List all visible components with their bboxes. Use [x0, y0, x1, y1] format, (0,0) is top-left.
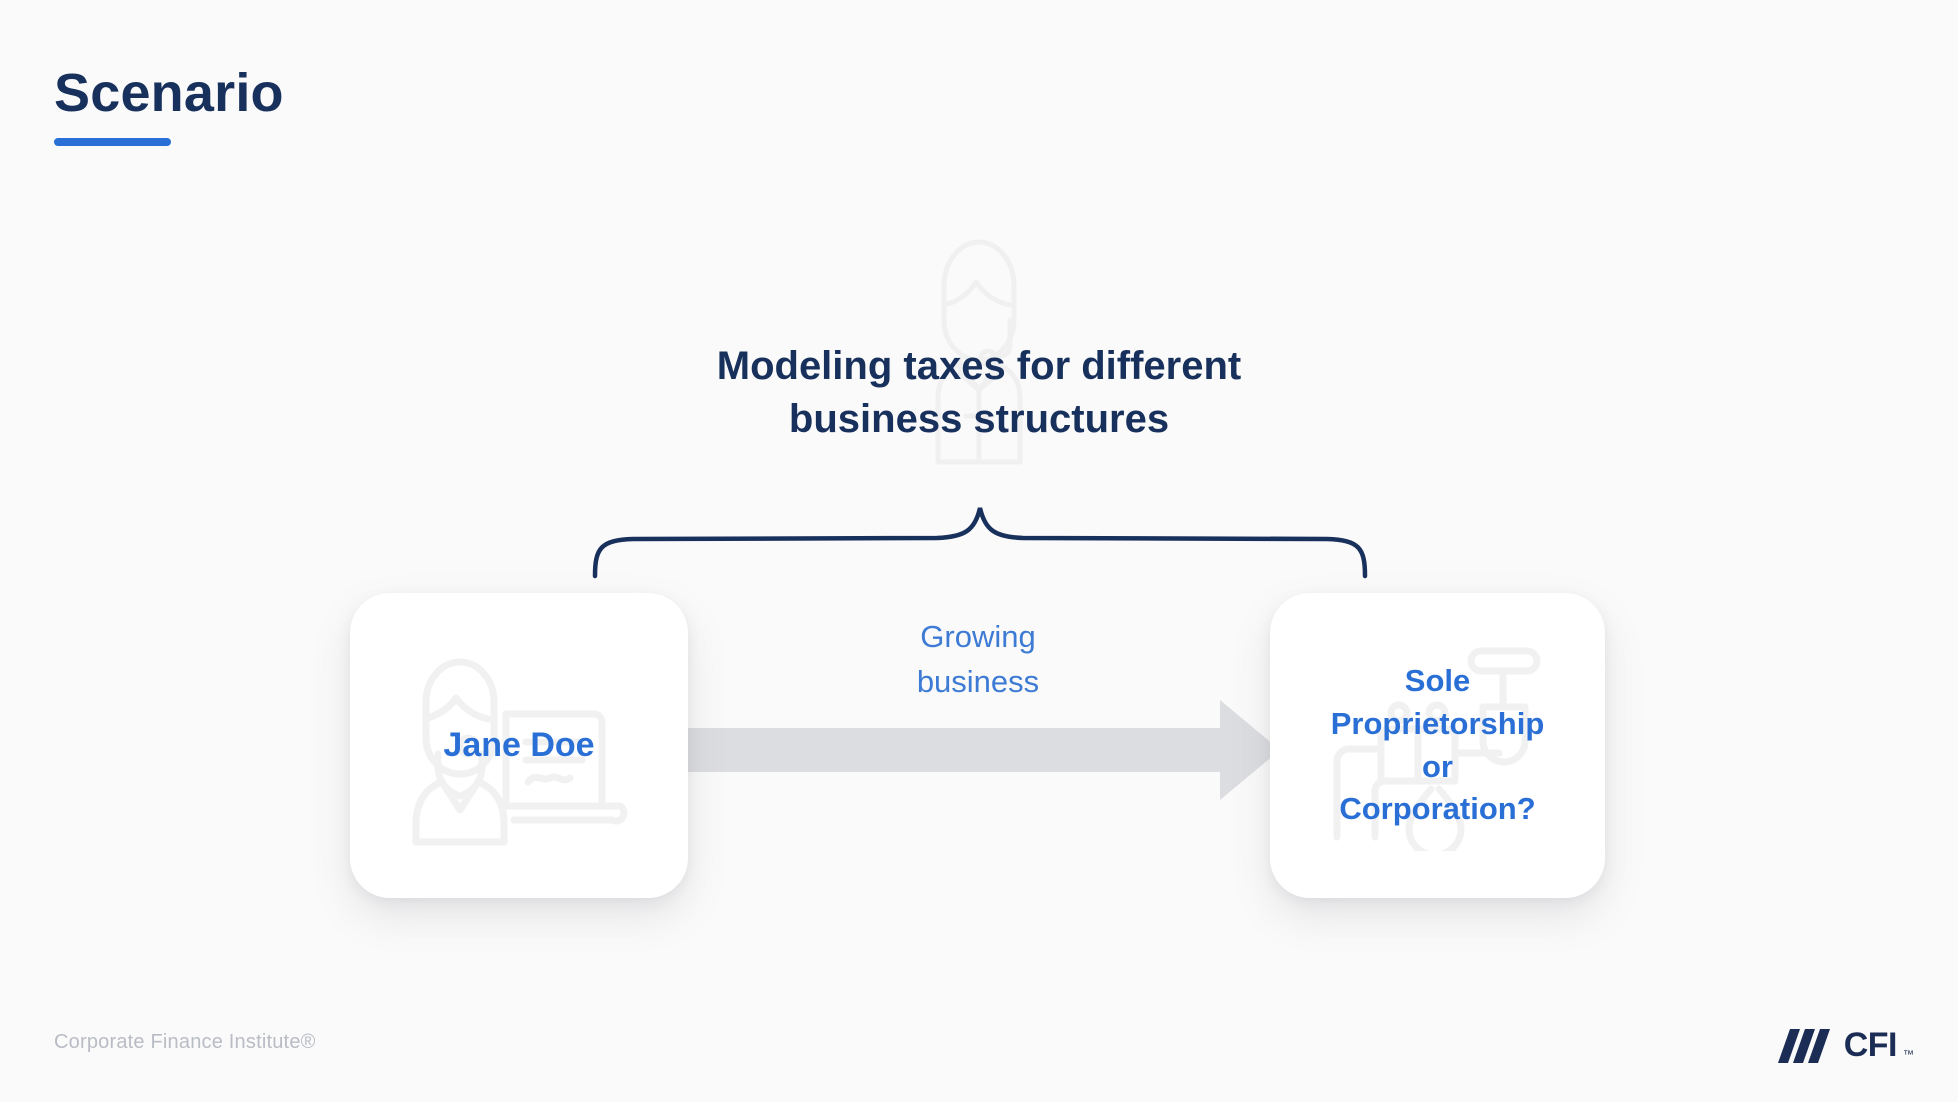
title-block: Scenario: [54, 66, 284, 146]
cfi-logo-word: CFI: [1844, 1028, 1897, 1062]
curly-brace-icon: [585, 490, 1375, 580]
left-card-label: Jane Doe: [419, 722, 618, 769]
cfi-bars-icon: [1776, 1025, 1838, 1065]
right-arrow-icon: [680, 700, 1280, 800]
cfi-trademark: ™: [1903, 1049, 1914, 1066]
cfi-logo: CFI ™: [1776, 1024, 1914, 1066]
right-card-label: Sole Proprietorship or Corporation?: [1307, 660, 1569, 831]
right-card-line-2: Proprietorship: [1331, 703, 1545, 746]
right-card-line-1: Sole: [1331, 660, 1545, 703]
right-card-line-3: or: [1331, 746, 1545, 789]
headline-line-2: business structures: [629, 393, 1329, 446]
right-entity-card[interactable]: Sole Proprietorship or Corporation?: [1270, 593, 1605, 898]
right-card-line-4: Corporation?: [1331, 788, 1545, 831]
page-title: Scenario: [54, 66, 284, 120]
arrow-caption-line-1: Growing: [828, 615, 1128, 660]
headline-line-1: Modeling taxes for different: [629, 340, 1329, 393]
arrow-caption-line-2: business: [828, 660, 1128, 705]
left-entity-card[interactable]: Jane Doe: [350, 593, 688, 898]
arrow-caption: Growing business: [828, 615, 1128, 705]
footer-attribution: Corporate Finance Institute®: [54, 1031, 316, 1054]
title-underline-rule: [54, 138, 171, 146]
slide-canvas: Scenario Modeling taxes for different bu…: [0, 0, 1958, 1102]
headline-text: Modeling taxes for different business st…: [629, 340, 1329, 446]
headline-block: Modeling taxes for different business st…: [629, 340, 1329, 446]
